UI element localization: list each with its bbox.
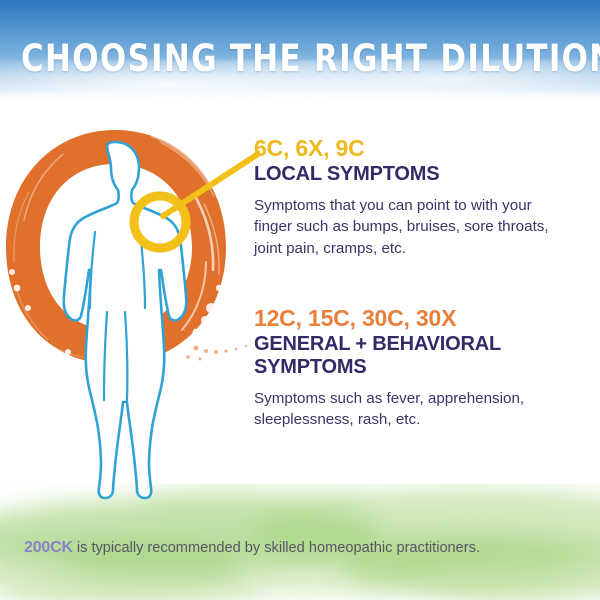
footer-note: 200CK is typically recommended by skille… xyxy=(24,538,584,558)
category-label-local: LOCAL SYMPTOMS xyxy=(254,163,590,186)
brush-tail xyxy=(186,345,247,361)
footer-note-text: is typically recommended by skilled home… xyxy=(73,540,480,556)
footer-dilution-label: 200CK xyxy=(24,539,73,556)
dilution-label-local: 6C, 6X, 9C xyxy=(254,136,590,162)
category-label-general: GENERAL + BEHAVIORAL SYMPTOMS xyxy=(254,333,590,379)
symptom-block-local: 6C, 6X, 9C LOCAL SYMPTOMS Symptoms that … xyxy=(254,136,590,259)
symptom-block-general: 12C, 15C, 30C, 30X GENERAL + BEHAVIORAL … xyxy=(254,306,590,431)
page-title: CHOOSING THE RIGHT DILUTION xyxy=(21,40,579,77)
header-banner: CHOOSING THE RIGHT DILUTION xyxy=(0,0,600,104)
description-local: Symptoms that you can point to with your… xyxy=(254,195,559,260)
body-illustration xyxy=(0,112,260,532)
description-general: Symptoms such as fever, apprehension, sl… xyxy=(254,388,559,431)
dilution-label-general: 12C, 15C, 30C, 30X xyxy=(254,306,590,332)
infographic-canvas: CHOOSING THE RIGHT DILUTION xyxy=(0,0,600,600)
